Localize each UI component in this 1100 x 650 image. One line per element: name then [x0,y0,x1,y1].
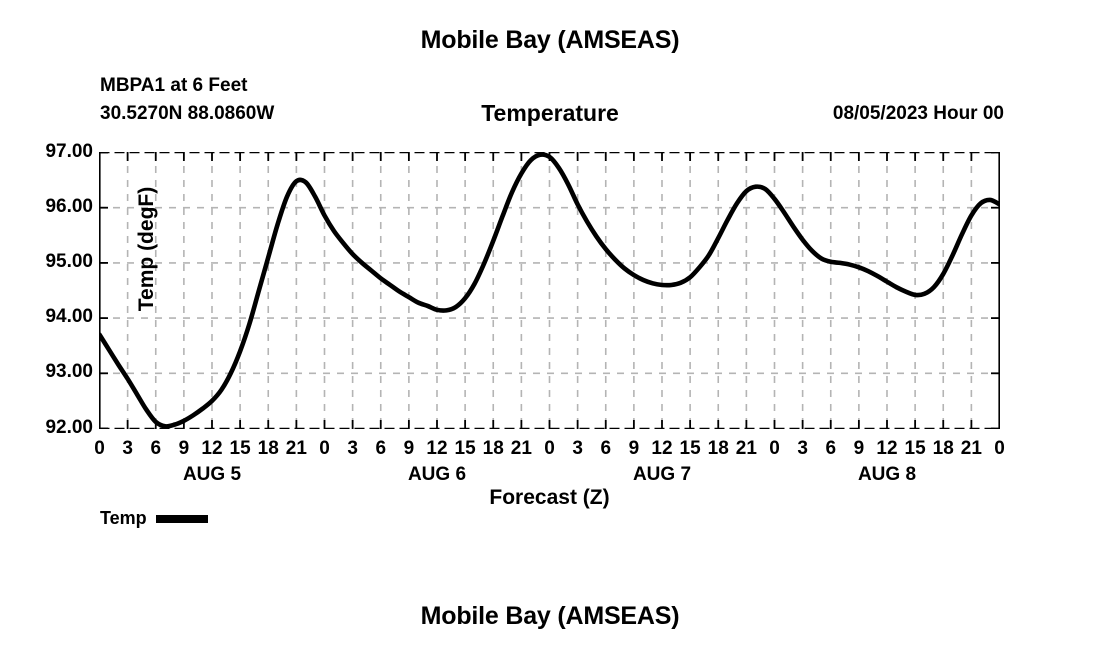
x-day-label-1: AUG 6 [357,464,517,486]
temperature-line-chart [99,152,1000,429]
model-run-label: 08/05/2023 Hour 00 [833,103,1004,125]
plot-frame [100,152,1000,429]
y-tick-95.00: 95.00 [7,251,93,273]
station-label: MBPA1 at 6 Feet [100,75,247,97]
x-axis-title: Forecast (Z) [99,486,1000,510]
legend: Temp [100,508,208,529]
y-axis-tick-labels: 92.0093.0094.0095.0096.0097.00 [7,152,93,429]
legend-swatch-temp [156,515,208,523]
x-tick-32: 0 [980,438,1020,460]
y-tick-96.00: 96.00 [7,196,93,218]
y-tick-93.00: 93.00 [7,361,93,383]
y-axis-title: Temp (degF) [135,149,159,349]
page-title-top: Mobile Bay (AMSEAS) [0,26,1100,55]
vertical-gridlines [128,152,972,429]
x-day-label-2: AUG 7 [582,464,742,486]
y-tick-97.00: 97.00 [7,141,93,163]
y-tick-92.00: 92.00 [7,417,93,439]
x-day-label-3: AUG 8 [807,464,967,486]
page-title-bottom: Mobile Bay (AMSEAS) [0,602,1100,631]
y-tick-94.00: 94.00 [7,306,93,328]
axis-ticks [99,152,1000,429]
chart-page: Mobile Bay (AMSEAS) MBPA1 at 6 Feet 30.5… [0,0,1100,650]
legend-label-temp: Temp [100,508,147,529]
x-axis-tick-labels: 0369121518210369121518210369121518210369… [99,438,1000,464]
x-day-label-0: AUG 5 [132,464,292,486]
plot-area: Temp (degF) 92.0093.0094.0095.0096.0097.… [99,152,1000,429]
